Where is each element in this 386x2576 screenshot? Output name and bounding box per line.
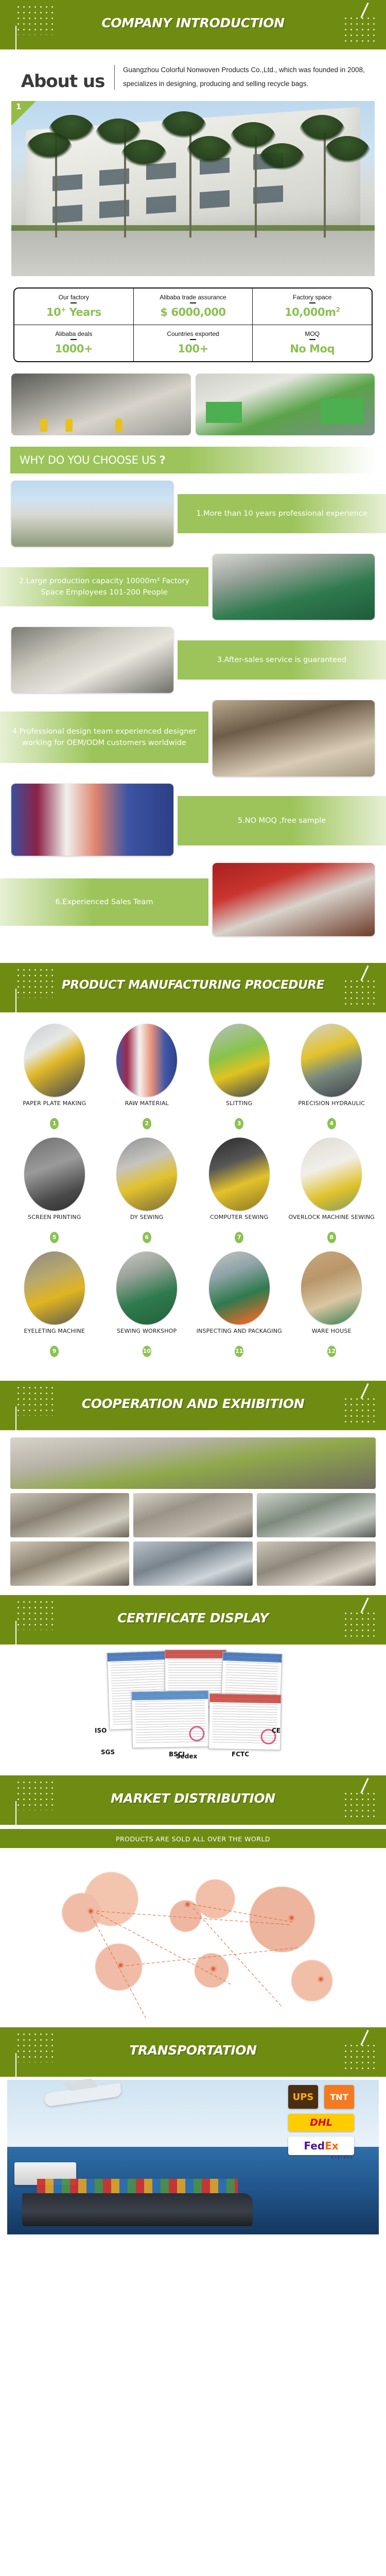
world-map (7, 1848, 379, 2018)
transportation-illustration: UPS TNT DHL FedEx Express (7, 2080, 379, 2234)
procedure-step: SEWING WORKSHOP 10 (101, 1248, 194, 1362)
overlock-machine-sewing-photo (301, 1138, 362, 1211)
exhibition-visitors-photo (10, 1541, 129, 1586)
procedure-step: INSPECTING AND PACKAGING 11 (193, 1248, 286, 1362)
stat-value: 10,000m2 (255, 306, 370, 318)
inspecting-packaging-photo (209, 1251, 270, 1325)
banner-title: COOPERATION AND EXHIBITION (0, 1396, 386, 1411)
certificate-document (131, 1690, 209, 1749)
manufacturing-steps-grid: PAPER PLATE MAKING 1 RAW MATERIAL 2 SLIT… (0, 1012, 386, 1371)
why-item-caption: 2.Large production capacity 10000m² Fact… (0, 567, 208, 606)
about-us-block: About us Guangzhou Colorful Nonwoven Pro… (0, 49, 386, 97)
procedure-step-label: RAW MATERIAL (103, 1100, 191, 1115)
banner-market-distribution: MARKET DISTRIBUTION (0, 1775, 386, 1825)
certificate-label-fctc: FCTC (232, 1751, 249, 1758)
market-subtitle: PRODUCTS ARE SOLD ALL OVER THE WORLD (0, 1835, 386, 1843)
procedure-step: SCREEN PRINTING 5 (8, 1134, 101, 1248)
factory-exterior-photo: 1 (11, 101, 375, 276)
procedure-step-label: EYELETING MACHINE (10, 1328, 99, 1343)
fabric-rolls-photo (11, 784, 173, 856)
office-staff-photo (11, 627, 173, 693)
fedex-fed-text: Fed (304, 2140, 325, 2152)
exhibition-visitors-photo (133, 1541, 252, 1586)
warehouse-photo (301, 1251, 362, 1325)
banner-title: TRANSPORTATION (0, 2043, 386, 2058)
procedure-step: SLITTING 3 (193, 1021, 286, 1134)
underline-dash (71, 302, 77, 303)
screen-printing-photo (24, 1138, 85, 1211)
stat-cell-moq: MOQ No Moq (252, 325, 372, 361)
why-item-caption: 5.NO MOQ ,free sample (178, 796, 386, 845)
stat-value: 100+ (136, 343, 251, 355)
procedure-step-label: WARE HOUSE (288, 1328, 376, 1343)
why-item-caption: 3.After-sales service is guaranteed (178, 640, 386, 680)
procedure-step-number: 12 (327, 1346, 336, 1357)
procedure-step-number: 2 (143, 1118, 151, 1129)
exhibition-photo-row (10, 1541, 376, 1586)
dhl-logo: DHL (288, 2114, 354, 2131)
showroom-photo (196, 374, 375, 435)
stat-label: MOQ (255, 330, 370, 337)
cargo-ship-icon (22, 2193, 253, 2226)
banner-title: CERTIFICATE DISPLAY (0, 1611, 386, 1625)
banner-title: COMPANY INTRODUCTION (0, 15, 386, 30)
procedure-step: OVERLOCK MACHINE SEWING 8 (286, 1134, 378, 1248)
procedure-step-label: DY SEWING (103, 1214, 191, 1229)
ups-logo: UPS (288, 2085, 318, 2109)
banner-certificate-display: CERTIFICATE DISPLAY (0, 1595, 386, 1645)
procedure-step-label: PRECISION HYDRAULIC (288, 1100, 376, 1115)
band-why-choose-us: WHY DO YOU CHOOSE US ? (10, 447, 376, 473)
ground-strip (11, 231, 375, 276)
eyeleting-machine-photo (24, 1251, 85, 1325)
market-subtitle-bar: PRODUCTS ARE SOLD ALL OVER THE WORLD (0, 1829, 386, 1848)
procedure-step-label: OVERLOCK MACHINE SEWING (288, 1214, 376, 1229)
stat-label: Countries exported (136, 330, 251, 337)
underline-dash (190, 339, 196, 340)
certificate-label-sgs: SGS (101, 1749, 115, 1756)
procedure-step: PAPER PLATE MAKING 1 (8, 1021, 101, 1134)
certificate-document (208, 1693, 282, 1750)
underline-dash (190, 302, 196, 303)
procedure-step-number: 11 (235, 1346, 243, 1357)
precision-hydraulic-photo (301, 1024, 362, 1097)
exhibition-photo-row (10, 1493, 376, 1537)
stat-value: $ 6000,000 (136, 306, 251, 318)
map-hub-point (119, 1963, 122, 1967)
exhibition-visitors-photo (10, 1493, 129, 1537)
procedure-step-number: 5 (50, 1232, 59, 1243)
sewing-workshop-photo (116, 1251, 177, 1325)
procedure-step-label: PAPER PLATE MAKING (10, 1100, 99, 1115)
exhibition-booth-photo (10, 1437, 376, 1489)
stat-cell-factory-space: Factory space 10,000m2 (252, 289, 372, 325)
divider (114, 65, 115, 90)
raw-material-photo (116, 1024, 177, 1097)
procedure-step: WARE HOUSE 12 (286, 1248, 378, 1362)
stat-label: Alibaba trade assurance (136, 294, 251, 301)
stat-value: No Moq (255, 343, 370, 355)
transportation-section: UPS TNT DHL FedEx Express (0, 2077, 386, 2234)
banner-title: MARKET DISTRIBUTION (0, 1791, 386, 1806)
vertical-bar-decoration-icon (15, 989, 16, 1012)
stat-cell-alibaba-deals: Alibaba deals 1000+ (14, 325, 133, 361)
why-item-4: 4.Professional design team experienced d… (0, 700, 386, 776)
stats-row: Alibaba deals 1000+ Countries exported 1… (14, 325, 372, 361)
fedex-logo: FedEx (288, 2137, 354, 2155)
underline-dash (309, 339, 315, 340)
office-photo-pair (11, 374, 375, 435)
company-profile-page: COMPANY INTRODUCTION About us Guangzhou … (0, 0, 386, 2234)
why-item-caption: 6.Experienced Sales Team (0, 878, 208, 926)
map-hub-point (186, 1903, 189, 1906)
why-item-5: 5.NO MOQ ,free sample (0, 784, 386, 856)
procedure-step-number: 10 (143, 1346, 151, 1357)
why-item-2: 2.Large production capacity 10000m² Fact… (0, 554, 386, 620)
exhibition-visitors-photo (257, 1541, 376, 1586)
procedure-step-number: 4 (327, 1118, 336, 1129)
why-item-3: 3.After-sales service is guaranteed (0, 627, 386, 693)
procedure-step: DY SEWING 6 (101, 1134, 194, 1248)
corner-badge (11, 101, 36, 126)
banner-transportation: TRANSPORTATION (0, 2027, 386, 2077)
procedure-step-number: 6 (143, 1232, 151, 1243)
sewing-workshop-photo (213, 554, 375, 620)
stat-value: 10+ Years (16, 306, 131, 318)
about-us-heading: About us (11, 63, 114, 92)
fedex-ex-text: Ex (325, 2140, 339, 2152)
why-item-6: 6.Experienced Sales Team (0, 863, 386, 936)
procedure-step: COMPUTER SEWING 7 (193, 1134, 286, 1248)
banner-company-introduction: COMPANY INTRODUCTION (0, 0, 386, 49)
banner-manufacturing-procedure: PRODUCT MANUFACTURING PROCEDURE (0, 963, 386, 1012)
factory-building-photo (11, 481, 173, 547)
slitting-photo (209, 1024, 270, 1097)
office-workspace-photo (11, 374, 191, 435)
stat-cell-our-factory: Our factory 10+ Years (14, 289, 133, 325)
dy-sewing-photo (116, 1138, 177, 1211)
company-stats-table: Our factory 10+ Years Alibaba trade assu… (13, 287, 373, 362)
stat-cell-trade-assurance: Alibaba trade assurance $ 6000,000 (133, 289, 253, 325)
procedure-step: PRECISION HYDRAULIC 4 (286, 1021, 378, 1134)
paper-plate-making-photo (24, 1024, 85, 1097)
stat-label: Factory space (255, 294, 370, 301)
underline-dash (71, 339, 77, 340)
certificate-label-sedex: Sedex (176, 1753, 197, 1760)
banner-title: PRODUCT MANUFACTURING PROCEDURE (0, 978, 386, 992)
about-us-paragraph: Guangzhou Colorful Nonwoven Products Co.… (123, 63, 375, 91)
stat-value: 1000+ (16, 343, 131, 355)
stats-row: Our factory 10+ Years Alibaba trade assu… (14, 289, 372, 325)
procedure-step-number: 7 (235, 1232, 243, 1243)
cooperation-gallery (0, 1430, 386, 1595)
computer-sewing-photo (209, 1138, 270, 1211)
procedure-step-label: COMPUTER SEWING (195, 1214, 284, 1229)
sales-team-photo (213, 863, 375, 936)
certificate-stage: ISO SGS BSCI Sedex FCTC CE (10, 1650, 376, 1768)
market-distribution: PRODUCTS ARE SOLD ALL OVER THE WORLD (0, 1825, 386, 2027)
underline-dash (309, 302, 315, 303)
procedure-step-number: 9 (50, 1346, 59, 1357)
procedure-step-number: 1 (50, 1118, 59, 1129)
exhibition-visitors-photo (133, 1493, 252, 1537)
why-item-caption: 4.Professional design team experienced d… (0, 711, 208, 763)
stat-label: Our factory (16, 294, 131, 301)
procedure-step-label: SLITTING (195, 1100, 284, 1115)
certificate-label-iso: ISO (95, 1727, 107, 1734)
procedure-step: EYELETING MACHINE 9 (8, 1248, 101, 1362)
procedure-step-number: 8 (327, 1232, 336, 1243)
procedure-step-label: SCREEN PRINTING (10, 1214, 99, 1229)
procedure-step-label: SEWING WORKSHOP (103, 1328, 191, 1343)
why-item-1: 1.More than 10 years professional experi… (0, 481, 386, 547)
why-item-caption: 1.More than 10 years professional experi… (178, 494, 386, 533)
map-hub-point (290, 1916, 293, 1920)
fedex-express-subtext: Express (331, 2155, 353, 2160)
stat-label: Alibaba deals (16, 330, 131, 337)
corner-badge-number: 1 (16, 102, 21, 111)
design-team-award-photo (213, 700, 375, 776)
procedure-step-number: 3 (235, 1118, 243, 1129)
procedure-step-label: INSPECTING AND PACKAGING (195, 1328, 284, 1343)
procedure-step: RAW MATERIAL 2 (101, 1021, 194, 1134)
band-title: WHY DO YOU CHOOSE US ? (10, 454, 165, 466)
certificate-display: ISO SGS BSCI Sedex FCTC CE (0, 1645, 386, 1775)
map-landmasses (7, 1848, 379, 2018)
certificate-label-ce: CE (272, 1727, 280, 1734)
banner-cooperation-exhibition: COOPERATION AND EXHIBITION (0, 1381, 386, 1430)
exhibition-visitors-photo (257, 1493, 376, 1537)
tnt-logo: TNT (324, 2085, 354, 2109)
stat-cell-countries-exported: Countries exported 100+ (133, 325, 253, 361)
